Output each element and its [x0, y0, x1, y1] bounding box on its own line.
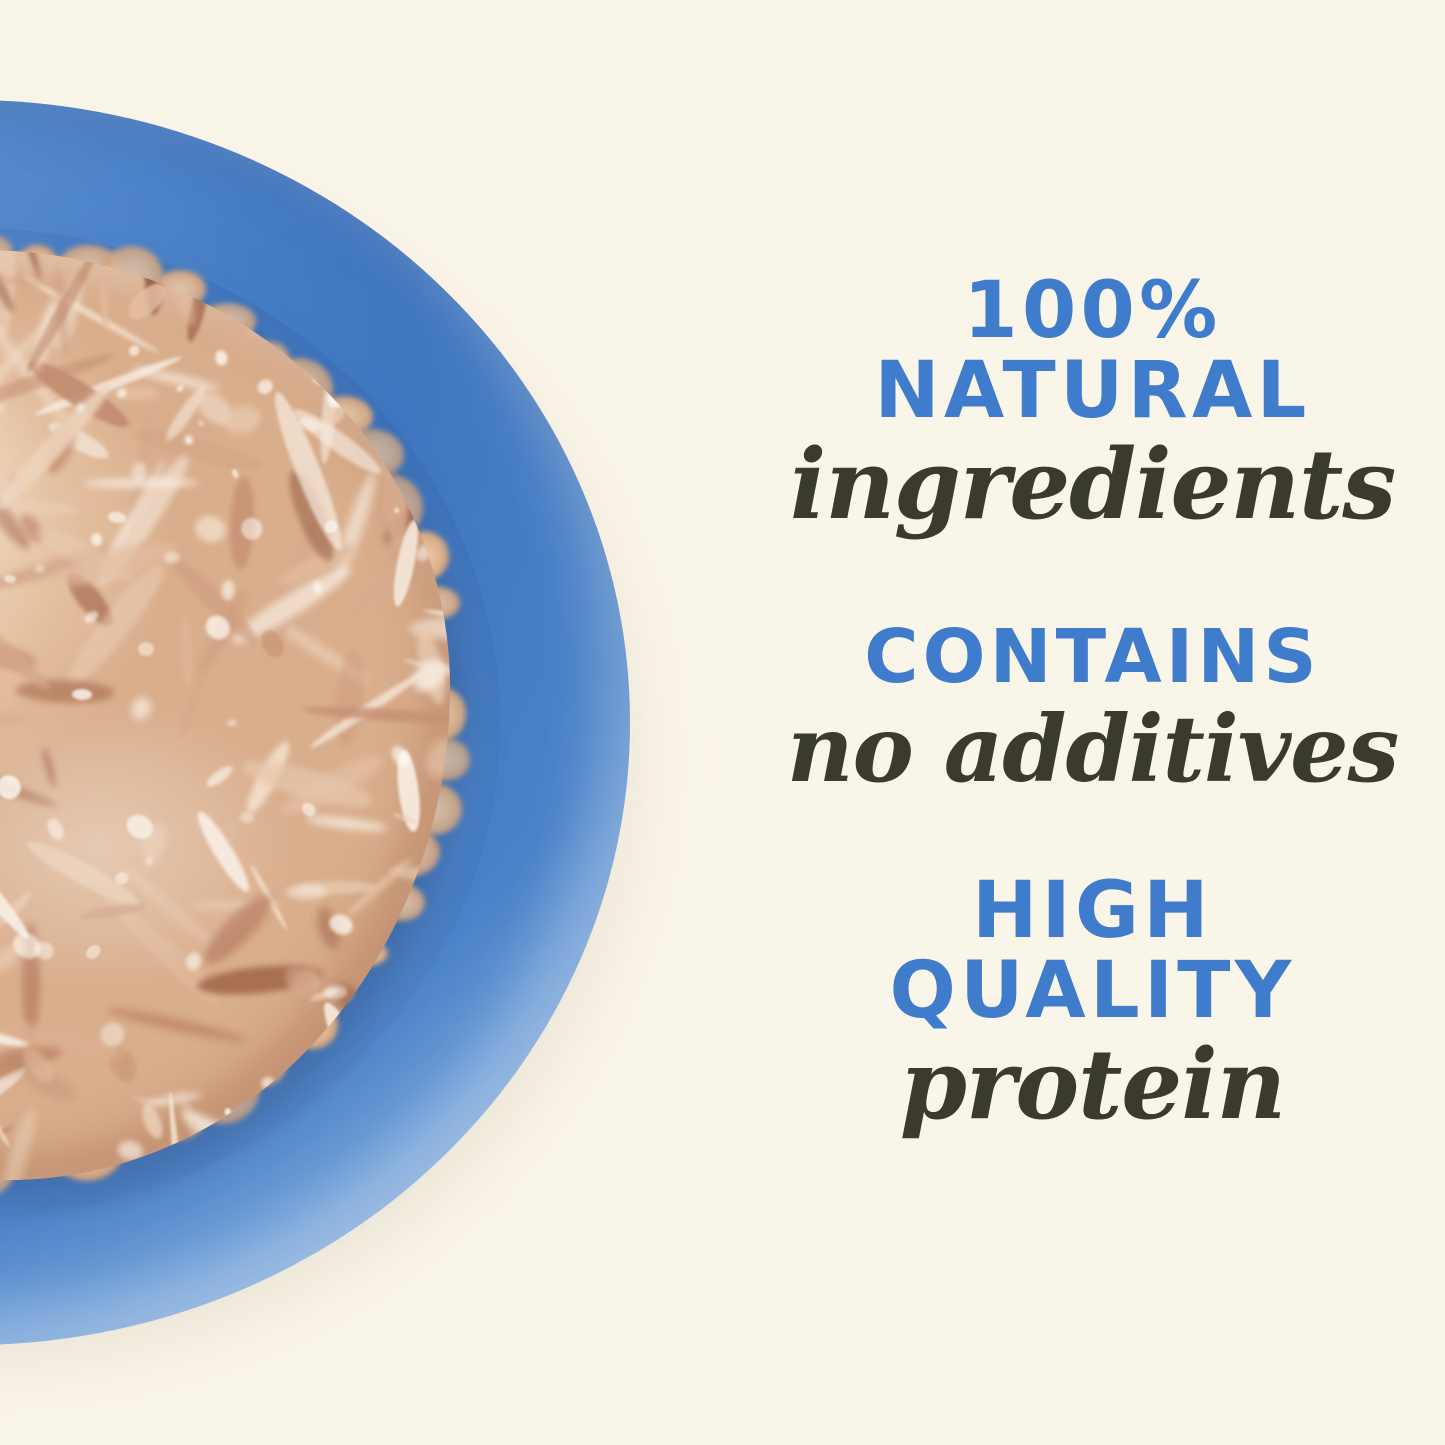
claims-column: 100% NATURAL ingredients CONTAINS no add… — [740, 0, 1445, 1445]
claim-3-headline-line-1: HIGH — [740, 872, 1445, 952]
claim-3-script: protein — [740, 1037, 1445, 1133]
claim-1-headline-line-1: 100% — [740, 272, 1445, 352]
claim-2-script: no additives — [740, 703, 1445, 795]
claim-2-headline-line-1: CONTAINS — [740, 620, 1445, 695]
claim-no-additives: CONTAINS no additives — [740, 620, 1445, 795]
claim-high-quality-protein: HIGH QUALITY protein — [740, 872, 1445, 1133]
claim-1-script: ingredients — [740, 437, 1445, 533]
shredded-tuna-mound — [0, 250, 450, 1180]
product-claims-banner: 100% NATURAL ingredients CONTAINS no add… — [0, 0, 1445, 1445]
product-photo — [0, 0, 740, 1445]
claim-3-headline-line-2: QUALITY — [740, 952, 1445, 1032]
claim-1-headline: 100% NATURAL — [740, 272, 1445, 431]
claim-1-headline-line-2: NATURAL — [740, 352, 1445, 432]
claim-3-headline: HIGH QUALITY — [740, 872, 1445, 1031]
claim-natural-ingredients: 100% NATURAL ingredients — [740, 272, 1445, 533]
claim-2-headline: CONTAINS — [740, 620, 1445, 695]
